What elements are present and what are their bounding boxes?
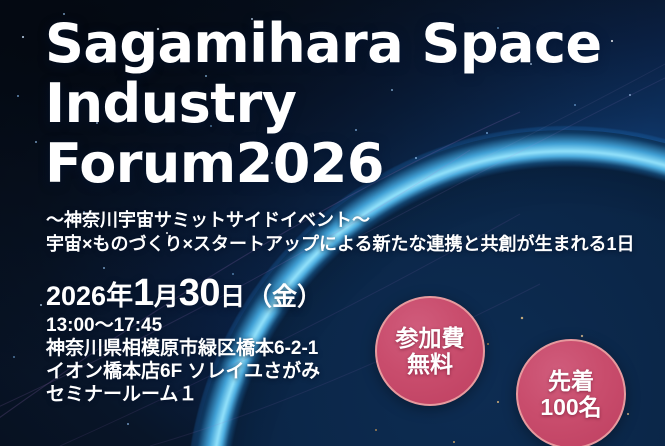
event-venue: イオン橋本店6F ソレイユさがみ xyxy=(46,360,320,383)
date-day-unit: 日 xyxy=(220,283,245,311)
date-year: 2026年 xyxy=(46,281,133,311)
date-month-value: 1 xyxy=(133,272,154,314)
date-day-value: 30 xyxy=(179,272,220,314)
poster-content: Sagamihara Space Industry Forum2026 〜神奈川… xyxy=(0,0,665,446)
badge-capacity-value: 100名 xyxy=(540,394,601,420)
badge-fee-value: 無料 xyxy=(407,351,453,377)
event-title: Sagamihara Space Industry Forum2026 xyxy=(45,14,602,194)
badge-capacity-label: 先着 xyxy=(548,368,594,394)
event-date: 2026年1月30日（金） xyxy=(46,272,322,315)
subtitle-line-2: 宇宙×ものづくり×スタートアップによる新たな連携と共創が生まれる1日 xyxy=(46,232,635,256)
subtitle-line-1: 〜神奈川宇宙サミットサイドイベント〜 xyxy=(46,208,635,232)
event-details: 13:00〜17:45 神奈川県相模原市緑区橋本6-2-1 イオン橋本店6F ソ… xyxy=(46,314,320,406)
badge-fee-label: 参加費 xyxy=(396,325,465,351)
date-weekday: （金） xyxy=(247,283,322,311)
event-poster: Sagamihara Space Industry Forum2026 〜神奈川… xyxy=(0,0,665,446)
event-room: セミナールーム１ xyxy=(46,383,320,406)
date-month-unit: 月 xyxy=(154,283,179,311)
badge-capacity: 先着 100名 xyxy=(516,339,626,446)
badge-participation-fee: 参加費 無料 xyxy=(375,296,485,406)
event-subtitle: 〜神奈川宇宙サミットサイドイベント〜 宇宙×ものづくり×スタートアップによる新た… xyxy=(46,208,635,256)
event-time: 13:00〜17:45 xyxy=(46,314,320,337)
event-address: 神奈川県相模原市緑区橋本6-2-1 xyxy=(46,337,320,360)
